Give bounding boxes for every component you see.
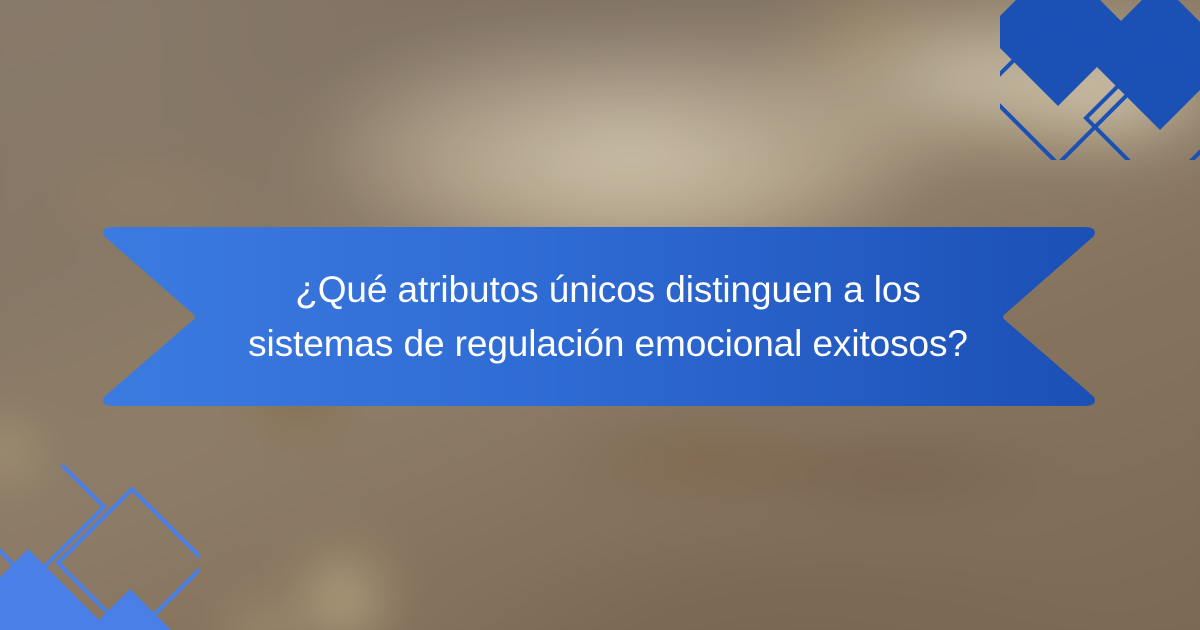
headline-line-2: sistemas de regulación emocional exitoso…: [187, 317, 1029, 370]
social-share-card: ¿Qué atributos únicos distinguen a los s…: [0, 0, 1200, 630]
headline-text: ¿Qué atributos únicos distinguen a los s…: [169, 263, 1029, 370]
headline-ribbon-banner: ¿Qué atributos únicos distinguen a los s…: [100, 226, 1098, 407]
headline-line-1: ¿Qué atributos únicos distinguen a los: [187, 263, 1029, 316]
